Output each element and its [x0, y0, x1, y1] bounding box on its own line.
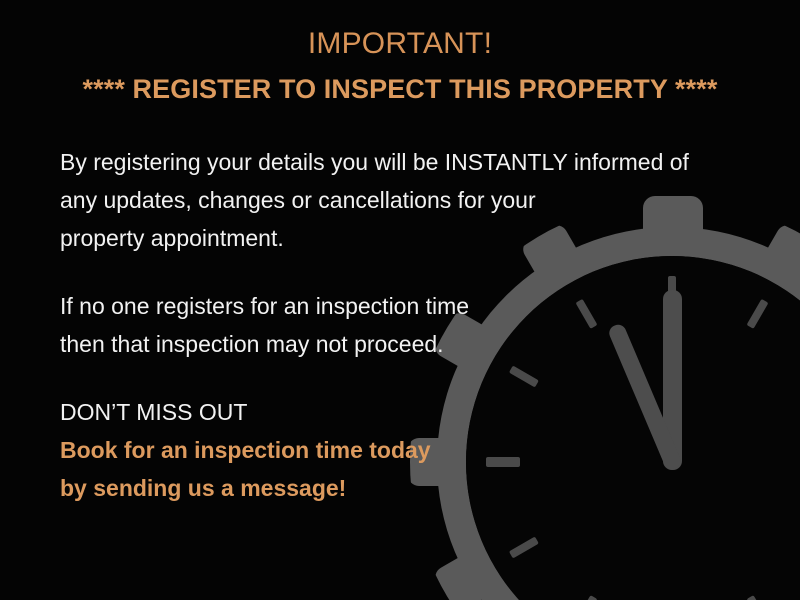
body-line: property appointment.	[60, 219, 689, 257]
heading-register-to-inspect: **** REGISTER TO INSPECT THIS PROPERTY *…	[0, 72, 800, 106]
paragraph-registering-details: By registering your details you will be …	[60, 143, 689, 257]
cta-headline: DON’T MISS OUT	[60, 393, 689, 431]
cta-message-line: by sending us a message!	[60, 469, 689, 507]
call-to-action: DON’T MISS OUT Book for an inspection ti…	[60, 393, 689, 507]
slide-canvas: IMPORTANT! **** REGISTER TO INSPECT THIS…	[0, 0, 800, 600]
body-line: If no one registers for an inspection ti…	[60, 287, 689, 325]
body-line: By registering your details you will be …	[60, 143, 689, 181]
body-copy: By registering your details you will be …	[60, 143, 689, 507]
body-line: any updates, changes or cancellations fo…	[60, 181, 689, 219]
heading-important: IMPORTANT!	[0, 26, 800, 62]
body-line: then that inspection may not proceed.	[60, 325, 689, 363]
cta-book-line: Book for an inspection time today	[60, 431, 689, 469]
paragraph-no-registrations: If no one registers for an inspection ti…	[60, 287, 689, 363]
heading-block: IMPORTANT! **** REGISTER TO INSPECT THIS…	[0, 26, 800, 106]
